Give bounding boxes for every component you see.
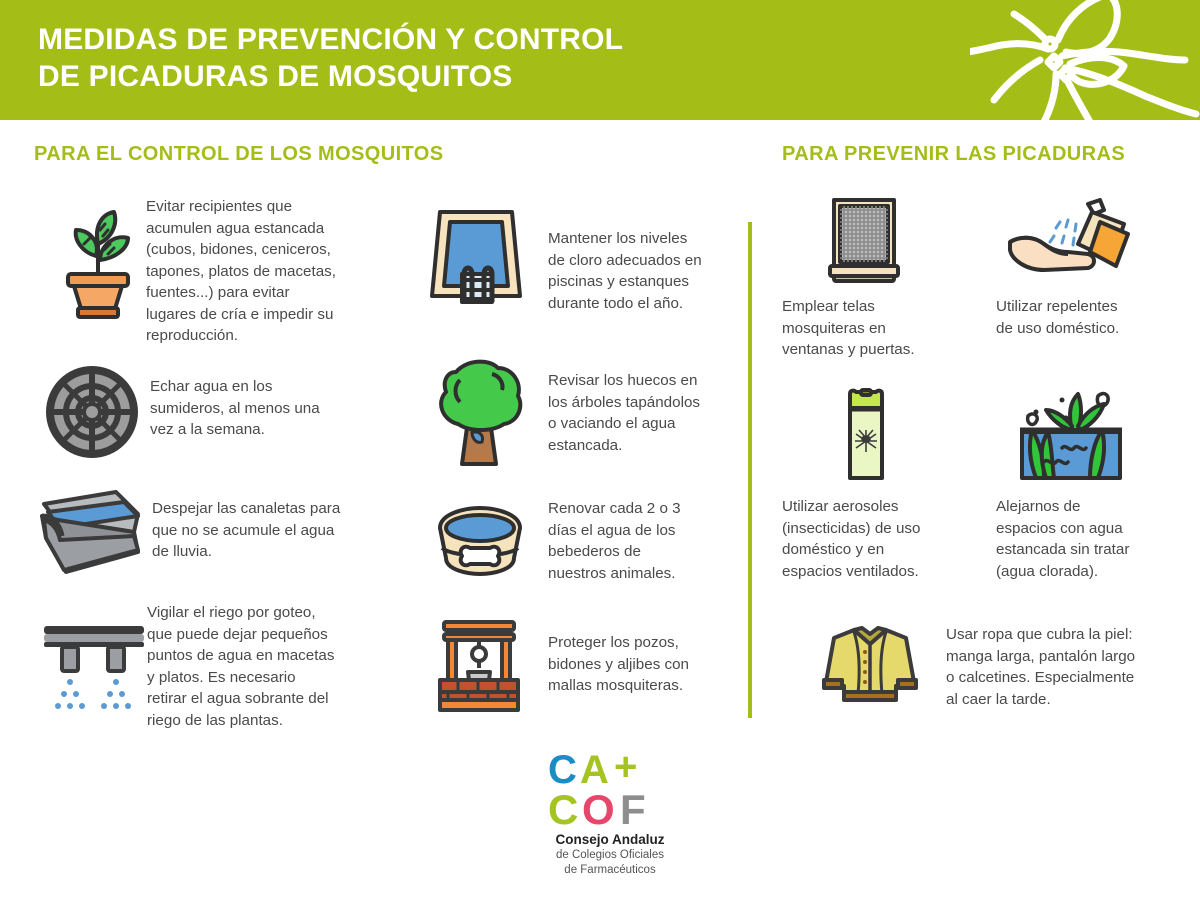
window-screen-icon xyxy=(824,196,904,286)
logo-org-name: Consejo Andaluz xyxy=(520,832,700,847)
long-sleeve-jacket-icon xyxy=(820,624,920,704)
list-item-text: Proteger los pozos, bidones y aljibes co… xyxy=(548,632,753,697)
logo-org-line3: de Farmacéuticos xyxy=(520,864,700,876)
swimming-pool-icon xyxy=(426,200,526,315)
infographic-page: MEDIDAS DE PREVENCIÓN Y CONTROL DE PICAD… xyxy=(0,0,1200,900)
insecticide-aerosol-icon xyxy=(828,386,904,486)
stagnant-water-pond-icon xyxy=(1006,386,1136,491)
list-item: Utilizar aerosoles (insecticidas) de uso… xyxy=(782,386,952,576)
list-item-text: Vigilar el riego por goteo, que puede de… xyxy=(147,602,402,731)
list-item-text: Despejar las canaletas para que no se ac… xyxy=(152,498,392,563)
list-item: Despejar las canaletas para que no se ac… xyxy=(34,486,394,591)
list-item: Proteger los pozos, bidones y aljibes co… xyxy=(420,614,740,729)
list-item-text: Emplear telas mosquiteras en ventanas y … xyxy=(782,296,952,361)
list-item: Usar ropa que cubra la piel: manga larga… xyxy=(800,610,1190,730)
list-item-text: Alejarnos de espacios con agua estancada… xyxy=(996,496,1176,582)
list-item: Renovar cada 2 o 3 días el agua de los b… xyxy=(420,492,740,607)
mosquito-icon xyxy=(970,0,1200,120)
roof-gutter-icon xyxy=(38,486,148,586)
list-item: Emplear telas mosquiteras en ventanas y … xyxy=(782,196,952,366)
list-item-text: Usar ropa que cubra la piel: manga larga… xyxy=(946,624,1196,710)
logo-mark: C A + C O F xyxy=(520,748,700,832)
list-item-text: Utilizar repelentes de uso doméstico. xyxy=(996,296,1176,339)
potted-plant-icon xyxy=(48,208,148,323)
list-item-text: Utilizar aerosoles (insecticidas) de uso… xyxy=(782,496,957,582)
list-item-text: Renovar cada 2 o 3 días el agua de los b… xyxy=(548,498,748,584)
section-title-prevention: PARA PREVENIR LAS PICADURAS xyxy=(782,143,1125,166)
list-item: Vigilar el riego por goteo, que puede de… xyxy=(34,602,404,737)
header-banner: MEDIDAS DE PREVENCIÓN Y CONTROL DE PICAD… xyxy=(0,0,1200,120)
list-item: Revisar los huecos en los árboles tapánd… xyxy=(420,358,740,473)
list-item-text: Evitar recipientes que acumulen agua est… xyxy=(146,196,391,347)
list-item: Alejarnos de espacios con agua estancada… xyxy=(996,386,1176,576)
section-title-control: PARA EL CONTROL DE LOS MOSQUITOS xyxy=(34,143,444,166)
logo-letter-plus: + xyxy=(614,748,637,789)
logo: C A + C O F Consejo Andaluz de Colegios … xyxy=(520,748,700,888)
list-item-text: Echar agua en los sumideros, al menos un… xyxy=(150,376,380,441)
pet-bowl-icon xyxy=(430,500,530,580)
logo-letter-o: O xyxy=(582,786,615,832)
logo-org-line2: de Colegios Oficiales xyxy=(520,849,700,861)
logo-letter-c2: C xyxy=(548,786,578,832)
tree-icon xyxy=(432,358,527,470)
list-item: Echar agua en los sumideros, al menos un… xyxy=(34,362,394,462)
list-item: Mantener los niveles de cloro adecuados … xyxy=(420,200,740,325)
list-item: Evitar recipientes que acumulen agua est… xyxy=(34,196,394,346)
list-item-text: Revisar los huecos en los árboles tapánd… xyxy=(548,370,758,456)
list-item-text: Mantener los niveles de cloro adecuados … xyxy=(548,228,748,314)
list-item: Utilizar repelentes de uso doméstico. xyxy=(996,196,1176,366)
drip-irrigation-icon xyxy=(40,616,150,721)
drain-grate-icon xyxy=(42,362,142,462)
page-title: MEDIDAS DE PREVENCIÓN Y CONTROL DE PICAD… xyxy=(38,22,623,95)
logo-letter-f: F xyxy=(620,786,646,832)
water-well-icon xyxy=(432,614,527,714)
repellent-spray-hand-icon xyxy=(1004,198,1144,288)
